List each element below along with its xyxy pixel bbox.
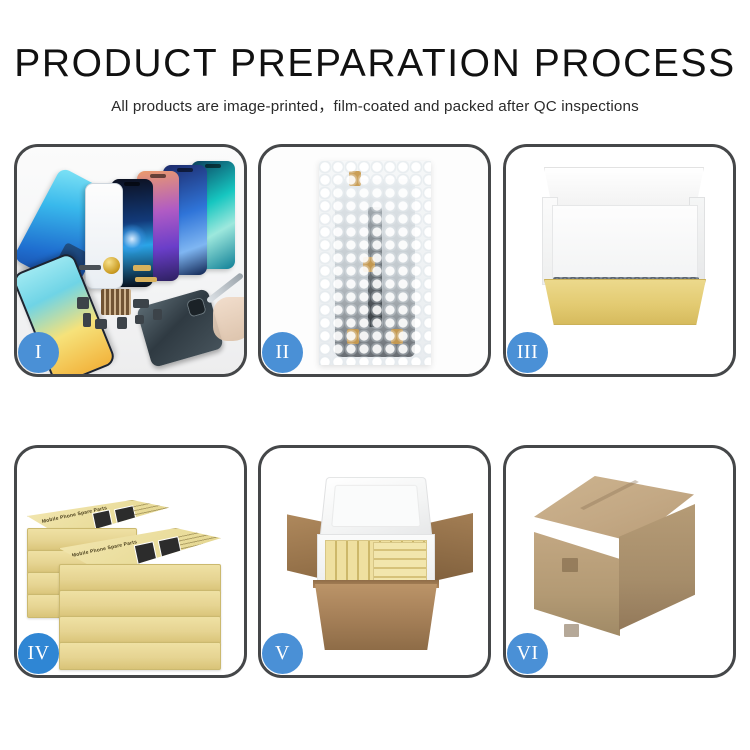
screw-tray-part: [101, 289, 131, 315]
page-subtitle: All products are image-printed，film-coat…: [0, 86, 750, 117]
small-part: [83, 313, 91, 327]
bubble-texture: [319, 161, 431, 365]
stacked-box: [59, 616, 221, 644]
small-part: [135, 315, 144, 324]
carton-handle-tab: [564, 624, 579, 637]
stacked-box: [59, 564, 221, 592]
notch-icon: [124, 182, 140, 186]
notch-icon: [205, 164, 221, 168]
product-preparation-infographic: PRODUCT PREPARATION PROCESS All products…: [0, 0, 750, 750]
process-step-3: III: [503, 144, 736, 377]
phone-fan-group: [97, 161, 237, 291]
flex-cable-part: [135, 277, 157, 282]
notch-icon: [177, 168, 193, 172]
foam-sheet: [552, 205, 698, 285]
process-step-2: II: [258, 144, 491, 377]
carton-handle-tab: [562, 558, 578, 572]
small-part: [79, 265, 101, 270]
process-step-4: Mobile Phone Spare Parts Mobile Phone Sp…: [14, 445, 247, 678]
vibration-motor-part: [103, 257, 120, 274]
process-step-grid: I II: [14, 144, 736, 678]
step-badge-3: III: [507, 332, 548, 373]
small-part: [95, 319, 107, 329]
step-badge-5: V: [262, 633, 303, 674]
header: PRODUCT PREPARATION PROCESS All products…: [0, 0, 750, 117]
bubble-wrap-bag: [319, 161, 431, 365]
process-step-5: V: [258, 445, 491, 678]
box-stack: Mobile Phone Spare Parts Mobile Phone Sp…: [23, 466, 241, 662]
small-part: [133, 299, 149, 308]
foam-lid: [319, 477, 432, 539]
process-step-1: I: [14, 144, 247, 377]
flex-cable-part: [133, 265, 151, 271]
stacked-box: [59, 642, 221, 670]
process-step-6: VI: [503, 445, 736, 678]
small-part: [117, 317, 127, 329]
step-badge-2: II: [262, 332, 303, 373]
stacked-box: [59, 590, 221, 618]
technician-hand: [213, 297, 244, 341]
carton-front: [315, 584, 437, 650]
yellow-box-base: [544, 279, 706, 325]
box-text-lines: [178, 527, 224, 561]
small-part: [77, 297, 89, 309]
box-text-lines: [132, 497, 178, 531]
step-badge-6: VI: [507, 633, 548, 674]
small-part: [153, 309, 162, 320]
step-badge-1: I: [18, 332, 59, 373]
carton-left-face: [534, 532, 620, 636]
page-title: PRODUCT PREPARATION PROCESS: [0, 0, 750, 86]
step-badge-4: IV: [18, 633, 59, 674]
phone-screen-blank: [85, 183, 123, 289]
notch-icon: [150, 174, 166, 178]
